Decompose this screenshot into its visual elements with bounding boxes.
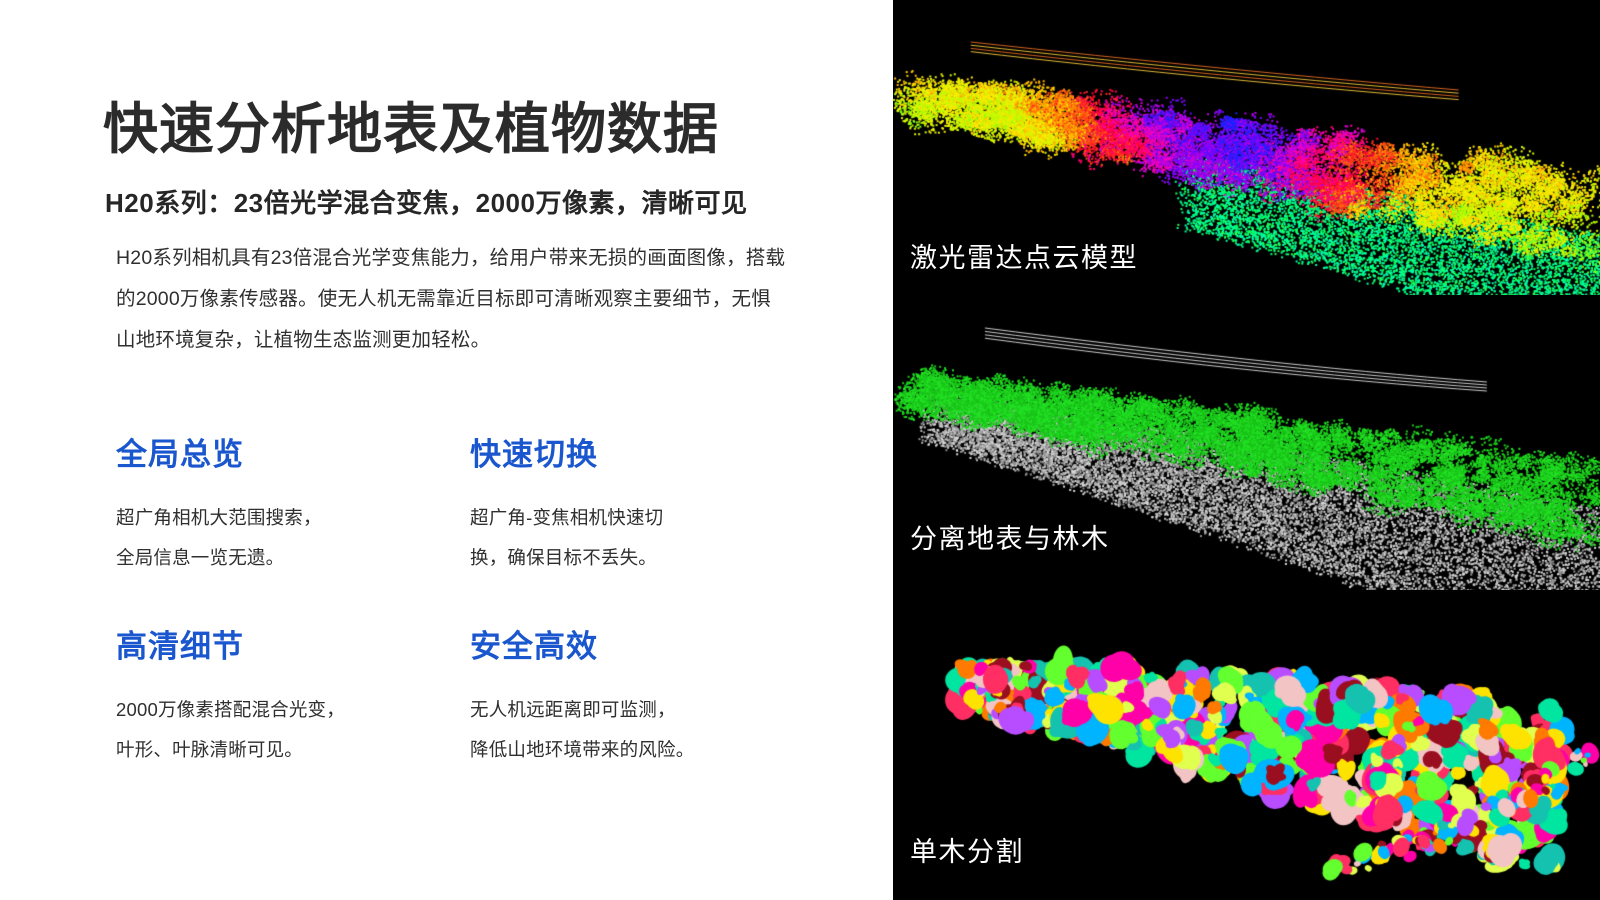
feature-body-line: 无人机远距离即可监测，: [470, 690, 810, 730]
feature-row: 全局总览 超广角相机大范围搜索， 全局信息一览无遗。 快速切换 超广角-变焦相机…: [0, 438, 907, 630]
feature-heading: 高清细节: [116, 630, 456, 664]
feature-body: 超广角相机大范围搜索， 全局信息一览无遗。: [116, 498, 456, 578]
feature-item-global-overview: 全局总览 超广角相机大范围搜索， 全局信息一览无遗。: [116, 438, 456, 578]
feature-item-hd-detail: 高清细节 2000万像素搭配混合光变， 叶形、叶脉清晰可见。: [116, 630, 456, 770]
feature-body-line: 超广角相机大范围搜索，: [116, 498, 456, 538]
feature-body: 超广角-变焦相机快速切 换，确保目标不丢失。: [470, 498, 810, 578]
feature-heading: 全局总览: [116, 438, 456, 472]
feature-body: 无人机远距离即可监测， 降低山地环境带来的风险。: [470, 690, 810, 770]
feature-body-line: 降低山地环境带来的风险。: [470, 730, 810, 770]
feature-body: 2000万像素搭配混合光变， 叶形、叶脉清晰可见。: [116, 690, 456, 770]
visualization-panel: 激光雷达点云模型 分离地表与林木 单木分割: [893, 0, 1600, 900]
page-subtitle: H20系列：23倍光学混合变焦，2000万像素，清晰可见: [105, 183, 747, 220]
viz-ground-vegetation-separation: 分离地表与林木: [893, 295, 1600, 595]
viz-caption: 分离地表与林木: [910, 517, 1110, 556]
feature-item-safe-efficient: 安全高效 无人机远距离即可监测， 降低山地环境带来的风险。: [470, 630, 810, 770]
feature-body-line: 2000万像素搭配混合光变，: [116, 690, 456, 730]
feature-body-line: 叶形、叶脉清晰可见。: [116, 730, 456, 770]
feature-heading: 快速切换: [470, 438, 810, 472]
viz-caption: 激光雷达点云模型: [910, 236, 1138, 275]
intro-paragraph: H20系列相机具有23倍混合光学变焦能力，给用户带来无损的画面图像，搭载的200…: [116, 238, 788, 361]
viz-caption: 单木分割: [910, 830, 1024, 869]
viz-lidar-point-cloud: 激光雷达点云模型: [893, 0, 1600, 300]
feature-row: 高清细节 2000万像素搭配混合光变， 叶形、叶脉清晰可见。 安全高效 无人机远…: [0, 630, 907, 822]
feature-item-quick-switch: 快速切换 超广角-变焦相机快速切 换，确保目标不丢失。: [470, 438, 810, 578]
feature-heading: 安全高效: [470, 630, 810, 664]
feature-body-line: 换，确保目标不丢失。: [470, 538, 810, 578]
feature-body-line: 超广角-变焦相机快速切: [470, 498, 810, 538]
slide-root: 快速分析地表及植物数据 H20系列：23倍光学混合变焦，2000万像素，清晰可见…: [0, 0, 1600, 900]
text-panel: 快速分析地表及植物数据 H20系列：23倍光学混合变焦，2000万像素，清晰可见…: [0, 0, 907, 900]
viz-individual-tree-segmentation: 单木分割: [893, 590, 1600, 900]
feature-body-line: 全局信息一览无遗。: [116, 538, 456, 578]
page-title: 快速分析地表及植物数据: [103, 100, 719, 159]
feature-grid: 全局总览 超广角相机大范围搜索， 全局信息一览无遗。 快速切换 超广角-变焦相机…: [0, 438, 907, 822]
